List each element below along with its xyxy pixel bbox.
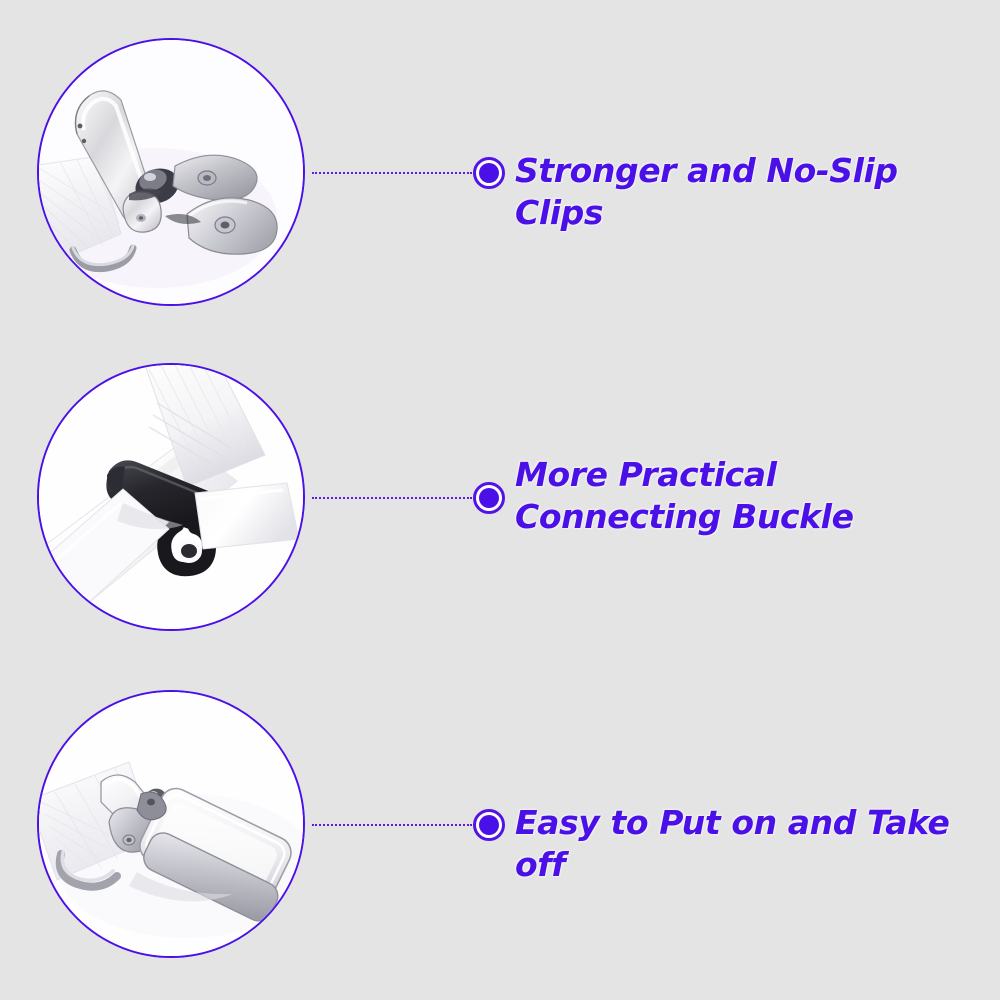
feature-row: Stronger and No-Slip Clips: [0, 22, 1000, 322]
bullet-dot-icon: [473, 157, 505, 189]
feature-label: Easy to Put on and Take off: [515, 802, 985, 886]
connector-line: [312, 824, 472, 828]
feature-image-easy-to-put-on-and-take-off: [37, 690, 305, 958]
infographic-page: Stronger and No-Slip Clips: [0, 0, 1000, 1000]
feature-label: Stronger and No-Slip Clips: [515, 150, 985, 234]
feature-image-stronger-no-slip-clips: [37, 38, 305, 306]
bullet-dot-icon: [473, 809, 505, 841]
bullet-dot-icon: [473, 482, 505, 514]
connector-line: [312, 172, 472, 176]
feature-label: More Practical Connecting Buckle: [515, 454, 985, 538]
feature-row: More Practical Connecting Buckle: [0, 347, 1000, 647]
feature-row: Easy to Put on and Take off: [0, 674, 1000, 974]
feature-image-more-practical-connecting-buckle: [37, 363, 305, 631]
connector-line: [312, 497, 472, 501]
